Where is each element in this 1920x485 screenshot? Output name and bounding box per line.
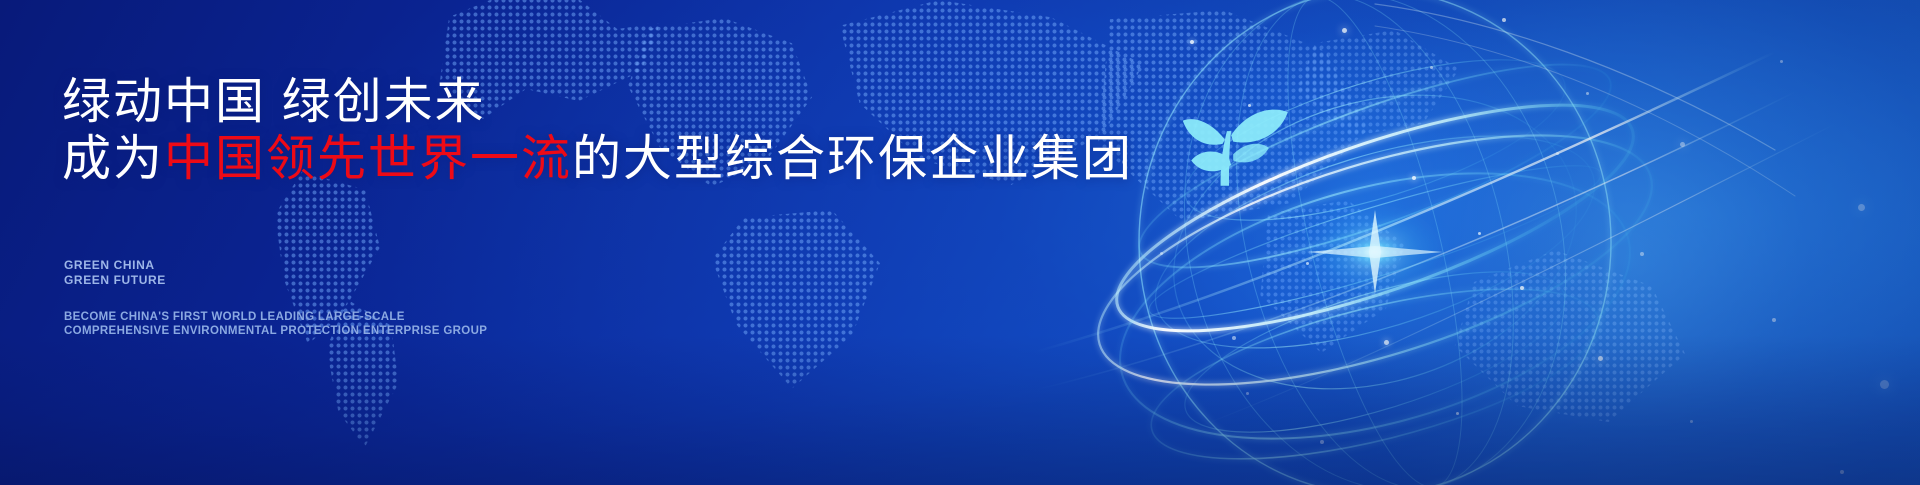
copy-block: 绿动中国 绿创未来 成为中国领先世界一流的大型综合环保企业集团 GREEN CH… (62, 0, 1062, 485)
headline-suffix: 的大型综合环保企业集团 (572, 132, 1133, 186)
map-landmass (1450, 250, 1690, 450)
globe-glow (1180, 0, 1920, 485)
subtitle-english: GREEN CHINA GREEN FUTURE (64, 258, 166, 288)
globe-light-trails (1035, 4, 1835, 428)
hero-banner: 绿动中国 绿创未来 成为中国领先世界一流的大型综合环保企业集团 GREEN CH… (0, 0, 1920, 485)
description-line-2: COMPREHENSIVE ENVIRONMENTAL PROTECTION E… (64, 324, 487, 338)
map-landmass (1230, 200, 1420, 370)
description-line-1: BECOME CHINA'S FIRST WORLD LEADING LARGE… (64, 310, 487, 324)
globe-meridians (1134, 0, 1617, 485)
description-english: BECOME CHINA'S FIRST WORLD LEADING LARGE… (64, 310, 487, 338)
globe-orbit-rings (1072, 26, 1679, 485)
headline-accent: 中国领先世界一流 (164, 132, 572, 186)
sprout-leaf-icon (1183, 110, 1288, 186)
map-landmass (1290, 30, 1470, 160)
globe-latitudes (1132, 27, 1618, 466)
subtitle-line-2: GREEN FUTURE (64, 273, 166, 288)
subtitle-line-1: GREEN CHINA (64, 258, 166, 273)
globe-core-flare (1303, 206, 1447, 298)
globe-sphere (1139, 0, 1611, 485)
wireframe-globe (1075, 0, 1695, 485)
headline: 绿动中国 绿创未来 成为中国领先世界一流的大型综合环保企业集团 (62, 74, 1133, 188)
headline-line-1: 绿动中国 绿创未来 (62, 75, 486, 129)
headline-line-2: 成为中国领先世界一流的大型综合环保企业集团 (62, 131, 1133, 188)
headline-prefix: 成为 (62, 132, 164, 186)
